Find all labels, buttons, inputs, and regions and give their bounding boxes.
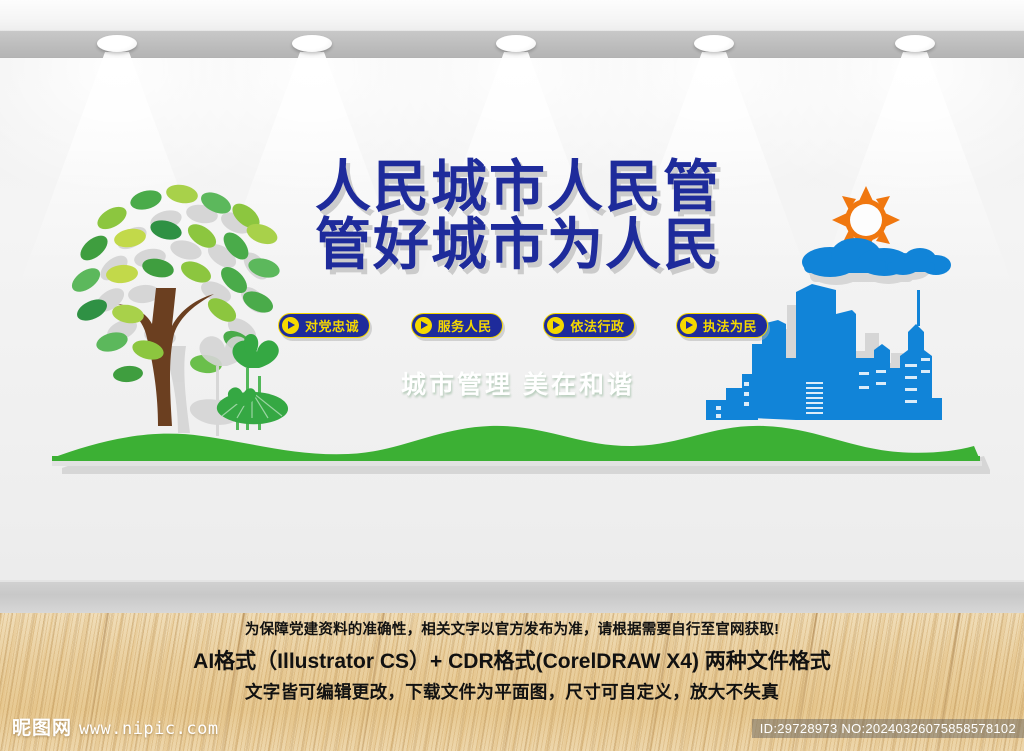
slogan-badge-4[interactable]: 执法为民 <box>676 313 768 338</box>
headline-line-1: 人民城市人民管 <box>268 158 768 216</box>
spotlight-icon <box>694 35 734 52</box>
slogan-badge-label: 执法为民 <box>703 316 757 335</box>
spotlight-icon <box>97 35 137 52</box>
wall-baseboard-highlight <box>0 580 1024 582</box>
slogan-badge-label: 依法行政 <box>570 316 624 335</box>
footer-line-1: 为保障党建资料的准确性，相关文字以官方发布为准，请根据需要自行至官网获取! <box>0 618 1024 639</box>
footer-line-2: AI格式（Illustrator CS）+ CDR格式(CorelDRAW X4… <box>0 645 1024 675</box>
watermark-brand: 昵图网 <box>12 713 72 740</box>
play-triangle-icon <box>415 317 432 334</box>
site-watermark: 昵图网 www.nipic.com <box>12 713 219 740</box>
slogan-badge-group: 对党忠诚 服务人民 依法行政 执法为民 <box>278 311 768 339</box>
slogan-badge-2[interactable]: 服务人民 <box>411 313 503 338</box>
slogan-badge-label: 服务人民 <box>438 316 492 335</box>
spotlight-icon <box>292 35 332 52</box>
headline-line-2: 管好城市为人民 <box>268 216 768 274</box>
mural-headline: 人民城市人民管 管好城市为人民 <box>268 158 768 274</box>
ceiling-upper <box>0 0 1024 30</box>
slogan-badge-1[interactable]: 对党忠诚 <box>278 313 370 338</box>
slogan-badge-3[interactable]: 依法行政 <box>543 313 635 338</box>
footer-line-3: 文字皆可编辑更改，下载文件为平面图，尺寸可自定义，放大不失真 <box>0 679 1024 704</box>
play-triangle-icon <box>282 317 299 334</box>
green-hill <box>52 426 980 460</box>
play-triangle-icon <box>547 317 564 334</box>
slogan-badge-label: 对党忠诚 <box>305 316 359 335</box>
spotlight-icon <box>496 35 536 52</box>
spotlight-icon <box>895 35 935 52</box>
screenshot-stage: 人民城市人民管 管好城市为人民 对党忠诚 服务人民 依法行政 执法为民 城市管理… <box>0 0 1024 751</box>
asset-id-badge: ID:29728973 NO:20240326075858578102 <box>752 719 1024 738</box>
mural-subtitle: 城市管理 美在和谐 <box>268 365 768 401</box>
footer-notes: 为保障党建资料的准确性，相关文字以官方发布为准，请根据需要自行至官网获取! AI… <box>0 618 1024 704</box>
play-triangle-icon <box>680 317 697 334</box>
watermark-url: www.nipic.com <box>79 719 219 739</box>
wall-baseboard <box>0 580 1024 613</box>
